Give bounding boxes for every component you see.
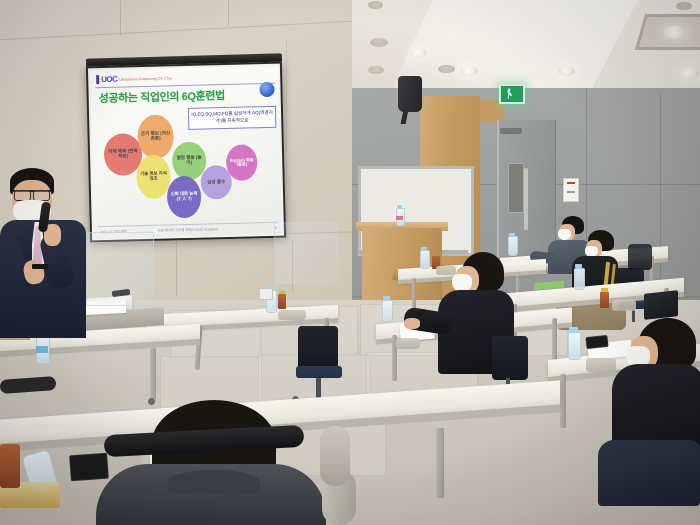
slide-title: 성공하는 직업인의 6Q훈련법 [98,87,224,106]
chair-seat[interactable] [296,366,342,378]
chair[interactable] [492,336,528,380]
downlight-ring [368,66,384,74]
wall-seam [176,238,177,296]
door-window [508,163,524,213]
bottle-label [36,346,48,353]
chair-back-right-foreground[interactable] [320,426,350,486]
table-leg [150,348,156,400]
presentation-slide: UOC Ubiquitous Computing On Chip 성공하는 직업… [90,66,282,239]
snack-pack [396,338,420,349]
snack-pack [278,310,306,320]
slide-footer-center: 작성 회사의 진로를 위해서 UOC Academy [158,226,219,232]
bottle-cap [421,247,427,250]
attendee-foreground-collar [168,470,260,494]
attendee-back-left-mask [558,229,571,240]
table-caster [148,398,155,405]
projection-screen: UOC Ubiquitous Computing On Chip 성공하는 직업… [86,62,286,243]
bottle-cap [383,296,390,300]
wall-notice [563,178,579,202]
downlight-ring [438,65,455,73]
snack-pack [436,266,456,275]
door-handle[interactable] [524,168,528,230]
downlight [460,66,478,76]
downlight-ring [368,1,383,9]
downlight [410,48,427,58]
chair[interactable] [298,326,338,370]
attendee-front-right-trousers [598,440,700,506]
laptop[interactable] [644,290,678,320]
water-bottle [568,332,581,360]
slide-callout: IQ,EQ,SQ,MQ,FQ를 실성하게 AQ(역경지수)를 지속적으로 [188,106,277,130]
table-leg [552,318,557,364]
juice-cap [601,288,608,292]
slide-bubble: English 회화 (활용) [226,144,258,181]
bottle-cap [397,205,402,208]
lecture-room-photo: UOC Ubiquitous Computing On Chip 성공하는 직업… [0,0,700,525]
bottle-cap [509,233,515,236]
wall-panel-seam [660,94,661,294]
logo-text: UOC [101,75,117,84]
running-man-icon [507,88,512,99]
juice-bottle [278,294,286,309]
wall-speaker [398,76,422,112]
slide-bubble: 신뢰 대화 능력 (3˚人˚7) [167,176,202,219]
snack-pack [586,358,616,372]
snack-pack [612,300,636,311]
lanyard [32,264,48,269]
wall-outlet[interactable] [259,288,273,300]
bottle-label [396,216,403,220]
bottle-cap [575,264,582,268]
downlight [664,26,686,39]
juice-bottle [0,444,20,488]
downlight [558,66,575,76]
water-bottle [420,250,430,269]
table-leg [436,428,444,498]
water-bottle [574,268,585,290]
slide-bubble: 끈기 확보 (자신 존중) [137,114,174,159]
globe-icon [259,82,274,97]
juice-bottle [600,292,609,308]
wall-seam [228,0,229,26]
chair[interactable] [628,244,652,270]
juice-cap [279,291,285,294]
acrylic-shield [86,232,154,306]
presenter [0,168,96,338]
downlight-ring [370,38,388,47]
slide-bubble: 기술 정보 지식 창조 [136,154,171,199]
wall-seam [120,0,121,36]
downlight-ring [676,2,692,10]
table-leg [560,374,566,428]
logo-bar-icon [96,75,99,84]
water-bottle [382,300,393,322]
water-bottle [508,236,518,256]
door-closer [500,128,522,134]
acrylic-shield [274,222,339,284]
downlight [679,68,699,80]
exit-sign [499,84,525,104]
smartphone[interactable] [69,453,109,482]
smartphone[interactable] [585,335,608,349]
slide-logo: UOC Ubiquitous Computing On Chip [96,73,172,84]
bottle-cap [569,327,578,332]
attendee-center-hand [404,318,420,329]
wall-seam [286,40,287,240]
logo-subtitle: Ubiquitous Computing On Chip [119,76,171,81]
